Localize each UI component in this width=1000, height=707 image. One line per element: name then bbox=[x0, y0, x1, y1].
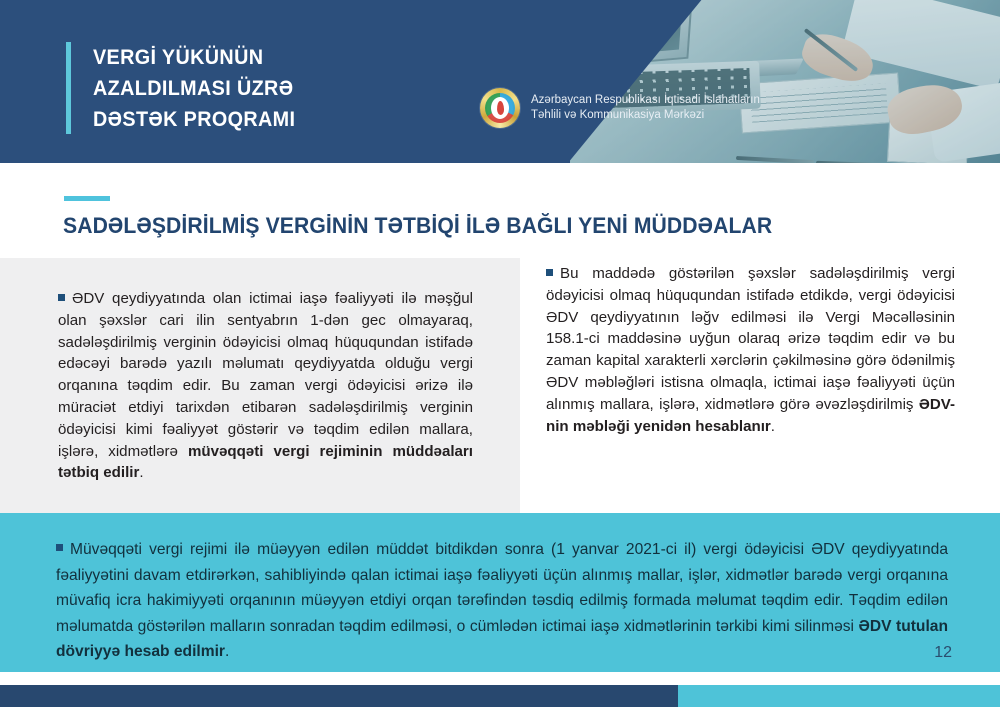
content-card-left: ƏDV qeydiyyatında olan ictimai iaşə fəal… bbox=[0, 258, 520, 513]
section-accent-rule bbox=[64, 196, 110, 201]
flame-icon bbox=[497, 101, 504, 115]
bullet-icon bbox=[546, 269, 553, 276]
azerbaijan-state-emblem-icon bbox=[480, 88, 520, 128]
slide-header: VERGİ YÜKÜNÜN AZALDILMASI ÜZRƏ DƏSTƏK PR… bbox=[0, 0, 1000, 163]
content-card-right: Bu maddədə göstərilən şəxslər sadələşdir… bbox=[520, 245, 1000, 513]
program-title: VERGİ YÜKÜNÜN AZALDILMASI ÜZRƏ DƏSTƏK PR… bbox=[93, 42, 295, 135]
card-left-text-tail: . bbox=[139, 464, 143, 481]
section-title: SADƏLƏŞDİRİLMİŞ VERGİNİN TƏTBİQİ İLƏ BAĞ… bbox=[63, 213, 772, 239]
bullet-icon bbox=[56, 544, 63, 551]
page-number: 12 bbox=[934, 640, 952, 666]
highlight-band: Müvəqqəti vergi rejimi ilə müəyyən edilə… bbox=[0, 513, 1000, 672]
organization-block: Azərbaycan Respublikası İqtisadi İslahat… bbox=[480, 88, 760, 128]
organization-name: Azərbaycan Respublikası İqtisadi İslahat… bbox=[531, 93, 760, 123]
band-text-tail: . bbox=[225, 643, 229, 660]
card-right-text-tail: . bbox=[771, 418, 775, 435]
organization-name-line-1: Azərbaycan Respublikası İqtisadi İslahat… bbox=[531, 93, 760, 108]
program-title-line-2: AZALDILMASI ÜZRƏ bbox=[93, 73, 295, 104]
card-left-text: ƏDV qeydiyyatında olan ictimai iaşə fəal… bbox=[58, 290, 473, 460]
header-photo bbox=[570, 0, 1000, 163]
program-title-line-3: DƏSTƏK PROQRAMI bbox=[93, 104, 295, 135]
bullet-icon bbox=[58, 294, 65, 301]
title-accent-bar bbox=[66, 42, 71, 134]
card-right-text: Bu maddədə göstərilən şəxslər sadələşdir… bbox=[546, 265, 955, 413]
footer-bar-navy bbox=[0, 685, 678, 707]
header-title-group: VERGİ YÜKÜNÜN AZALDILMASI ÜZRƏ DƏSTƏK PR… bbox=[66, 42, 313, 135]
footer-spacer bbox=[0, 672, 1000, 685]
program-title-line-1: VERGİ YÜKÜNÜN bbox=[93, 42, 295, 73]
organization-name-line-2: Təhlili və Kommunikasiya Mərkəzi bbox=[531, 108, 760, 123]
band-text: Müvəqqəti vergi rejimi ilə müəyyən edilə… bbox=[56, 541, 948, 635]
